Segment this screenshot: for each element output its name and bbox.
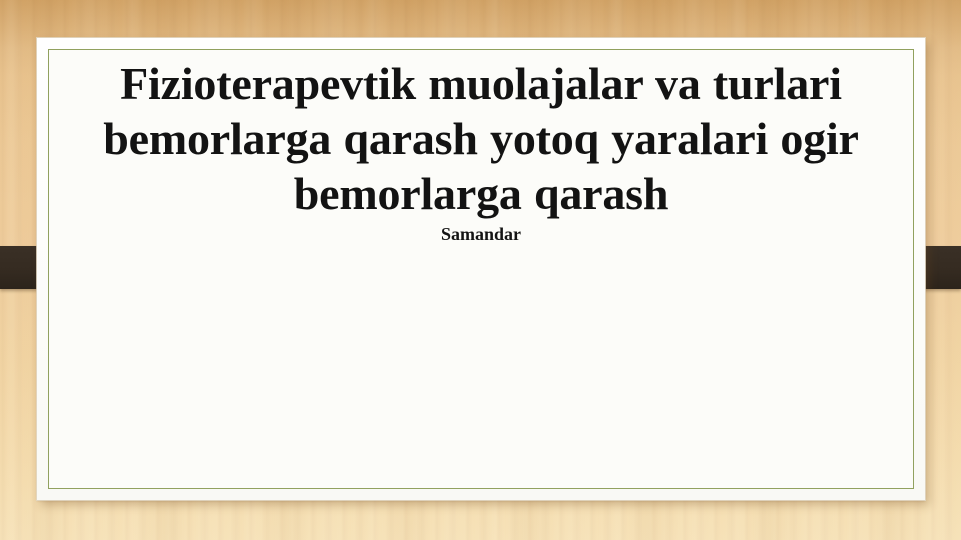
slide-subtitle: Samandar [37,223,925,245]
presentation-slide: Fizioterapevtik muolajalar va turlari be… [0,0,961,540]
title-text-block: Fizioterapevtik muolajalar va turlari be… [37,56,925,245]
title-card-frame: Fizioterapevtik muolajalar va turlari be… [37,38,925,500]
slide-title: Fizioterapevtik muolajalar va turlari be… [37,56,925,221]
